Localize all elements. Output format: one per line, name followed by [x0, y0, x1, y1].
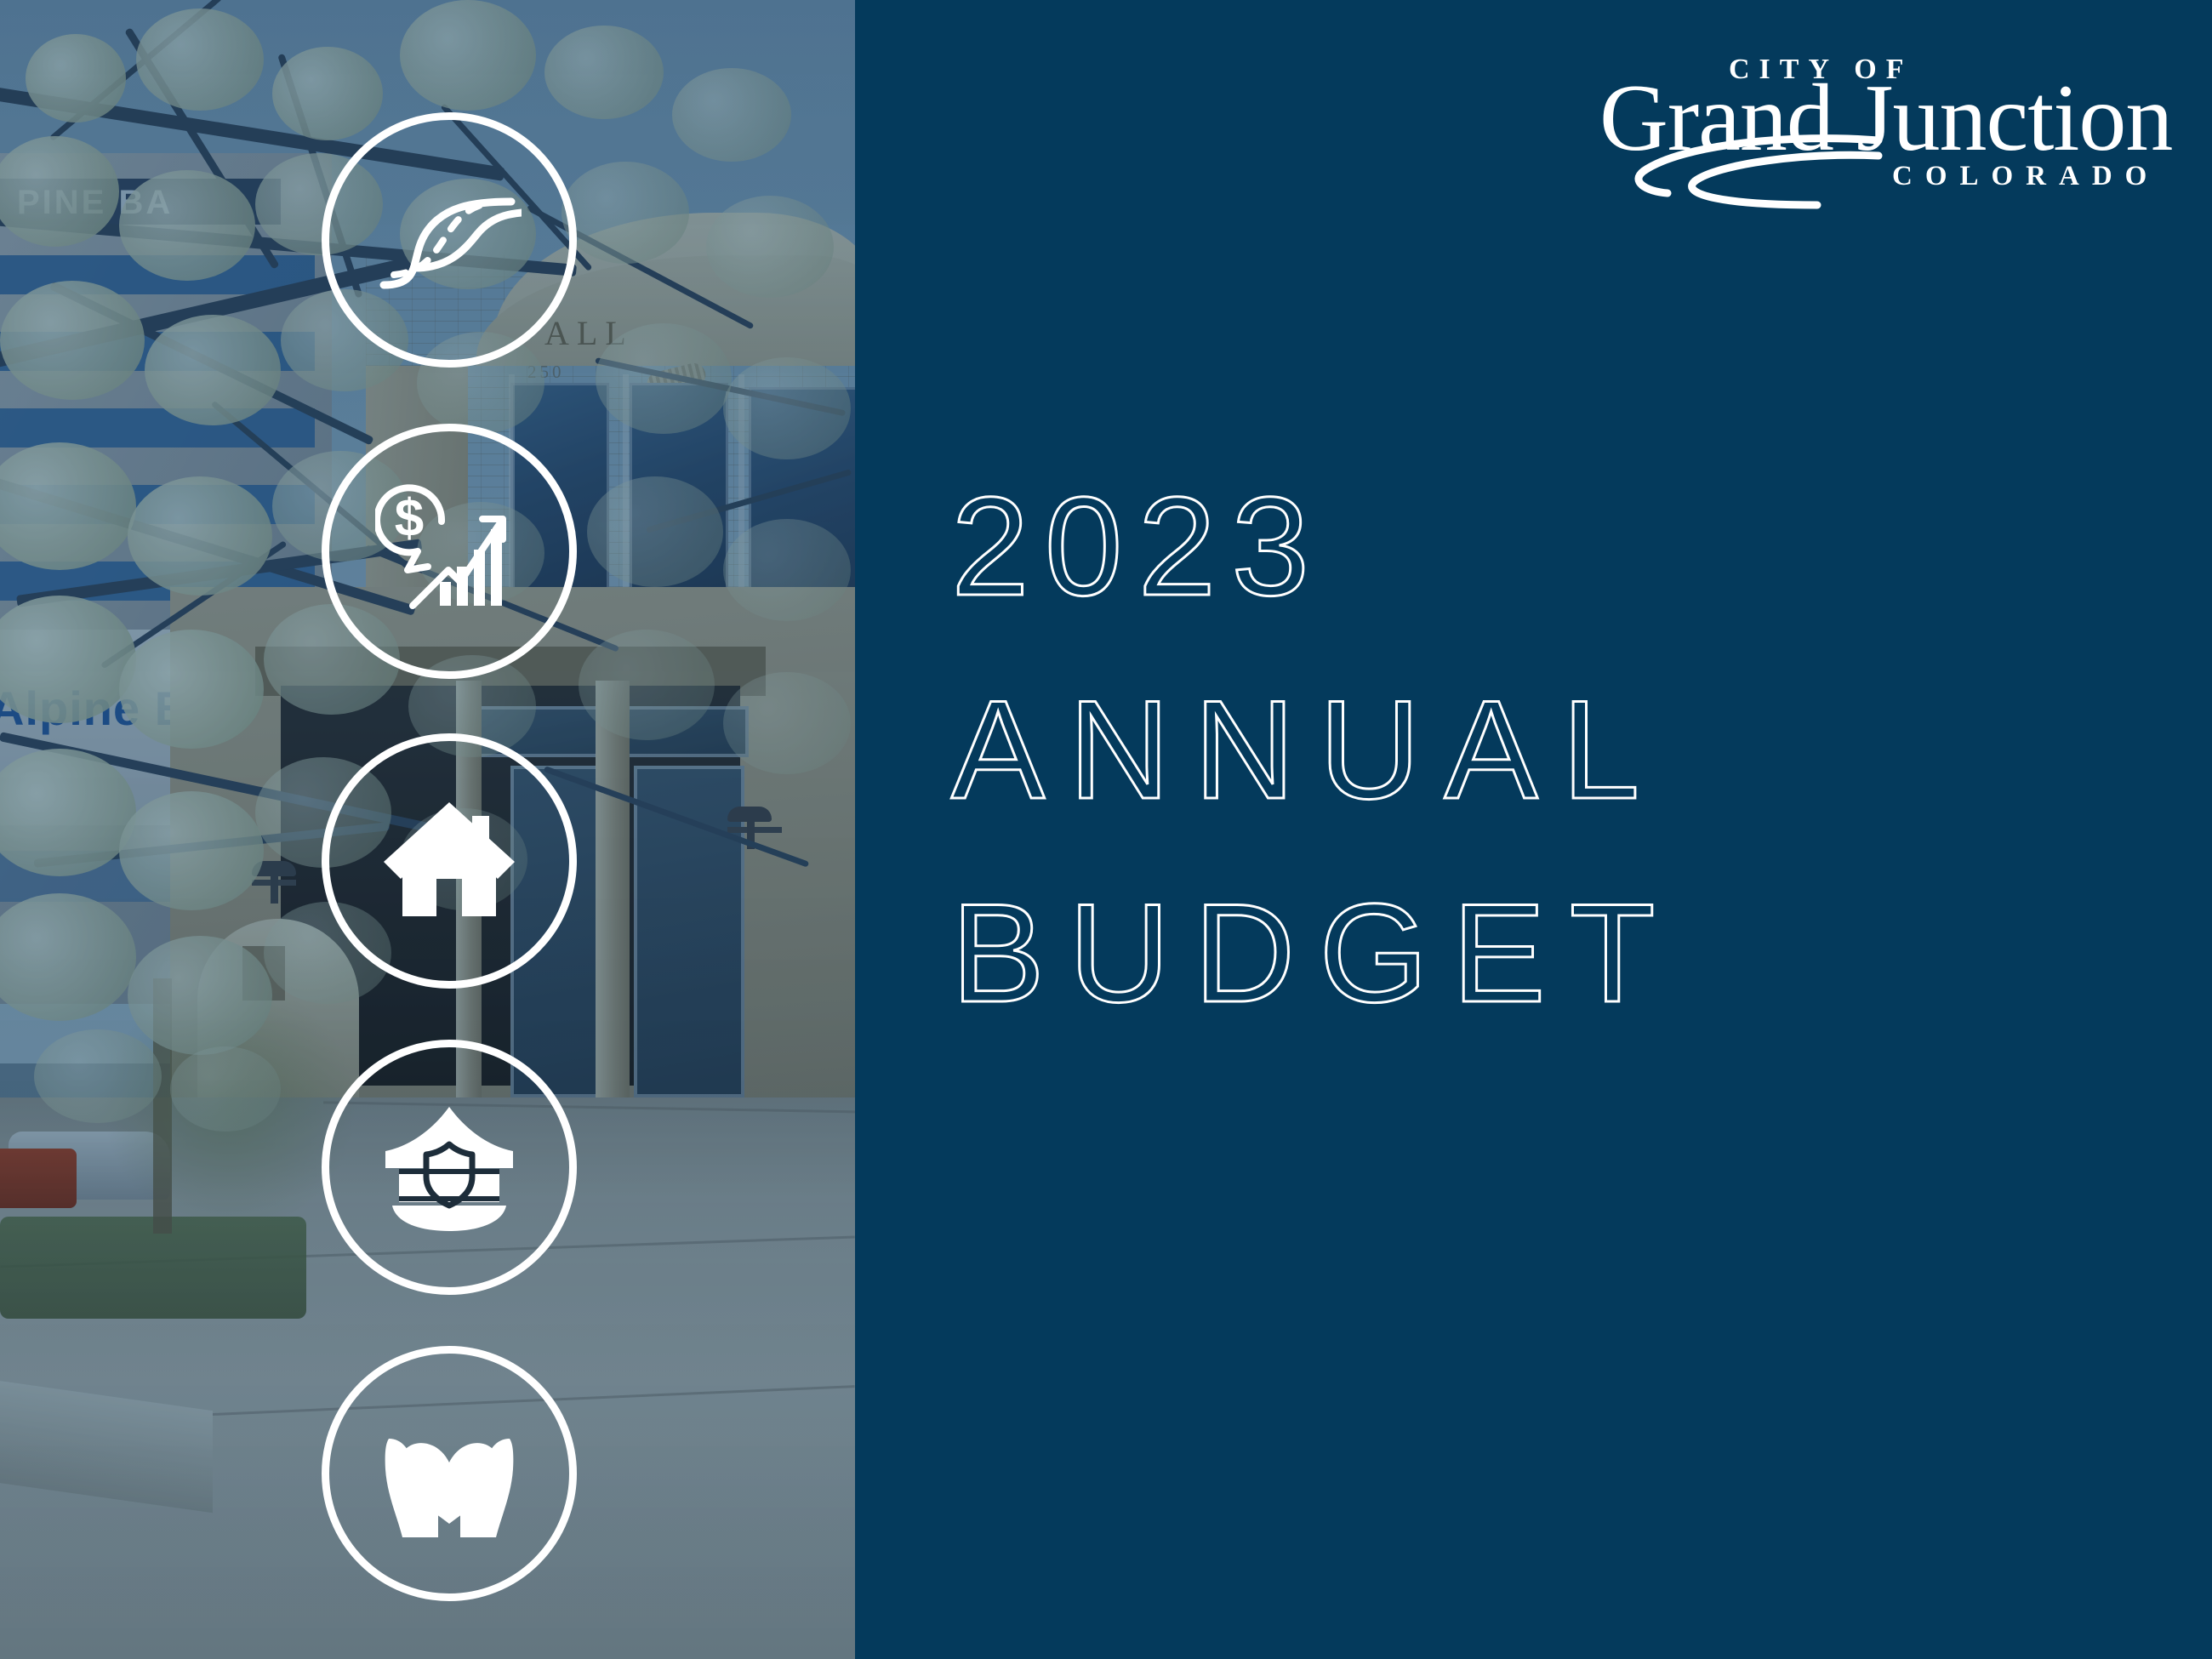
city-of-grand-junction-logo: CITY OF Grand Junction COLORADO	[1599, 38, 2161, 208]
house-icon-circle	[322, 733, 577, 989]
dollar-growth-icon: $	[375, 482, 524, 622]
budget-cover-slide: PINE BA Alpine Bank ALL 250	[0, 0, 2212, 1659]
title-budget: BUDGET	[951, 883, 1972, 1023]
logo-state-text: COLORADO	[1892, 161, 2159, 192]
police-cap-icon	[377, 1103, 522, 1231]
hands-heart-icon	[377, 1410, 522, 1537]
road-icon-circle	[322, 112, 577, 368]
hands-heart-icon-circle	[322, 1346, 577, 1601]
icon-column: $	[0, 0, 855, 1659]
police-cap-icon-circle	[322, 1040, 577, 1295]
title-annual: ANNUAL	[951, 680, 1972, 883]
dollar-growth-icon-circle: $	[322, 424, 577, 679]
cover-title-block: 2023 ANNUAL BUDGET	[951, 476, 1972, 1023]
title-year: 2023	[951, 476, 1972, 680]
house-icon	[377, 797, 522, 925]
svg-text:$: $	[394, 489, 423, 548]
road-icon	[377, 176, 522, 304]
